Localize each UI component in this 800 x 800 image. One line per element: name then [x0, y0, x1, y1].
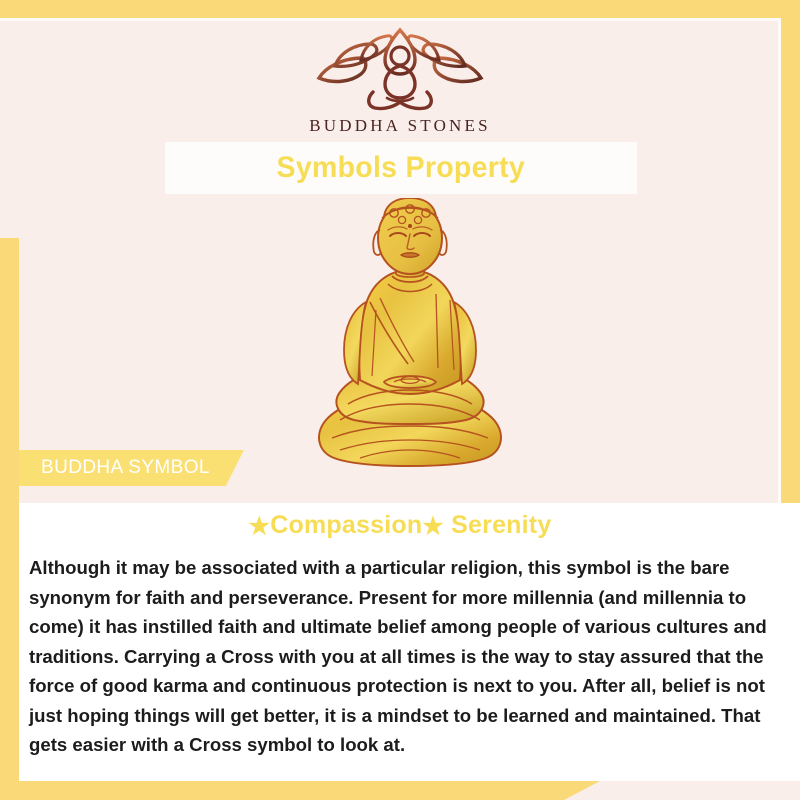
buddha-symbol-tag-label: BUDDHA SYMBOL [41, 457, 210, 479]
title-band: Symbols Property [165, 142, 637, 194]
promo-banner-page: BUDDHA STONES Symbols Property [0, 0, 800, 800]
brand-name: BUDDHA STONES [0, 116, 800, 136]
page-title: Symbols Property [277, 151, 525, 185]
decorative-frame-bottom [0, 781, 600, 800]
attribute-compassion: Compassion [270, 511, 422, 539]
attribute-serenity: Serenity [451, 511, 551, 539]
decorative-hairline-top [0, 18, 782, 21]
content-panel: ★Compassion★ Serenity Although it may be… [19, 503, 800, 781]
attributes-subtitle: ★Compassion★ Serenity [19, 511, 781, 541]
star-icon-second: ★ [422, 513, 444, 540]
golden-buddha-statue [288, 198, 533, 490]
buddha-symbol-tag: BUDDHA SYMBOL [19, 450, 244, 486]
decorative-frame-left [0, 238, 19, 800]
description-paragraph: Although it may be associated with a par… [29, 553, 784, 760]
lotus-meditation-icon [0, 22, 800, 114]
decorative-frame-top [0, 0, 800, 18]
brand-header: BUDDHA STONES [0, 22, 800, 136]
star-icon-first: ★ [249, 513, 271, 540]
